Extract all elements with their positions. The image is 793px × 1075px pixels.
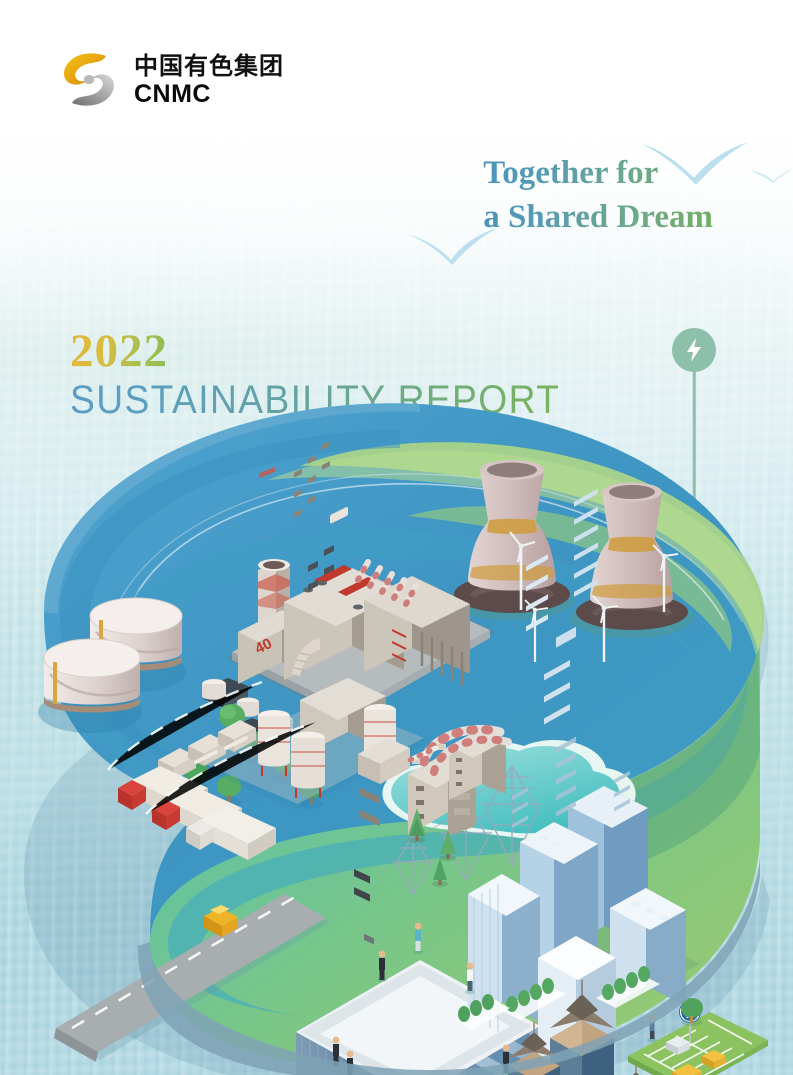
cover-tagline: Together for a Shared Dream <box>483 152 713 239</box>
company-name-en: CNMC <box>134 82 284 107</box>
brand-logo: 中国有色集团 CNMC <box>58 50 284 110</box>
silo <box>291 732 325 799</box>
cnmc-swirl-logo-icon <box>58 50 120 110</box>
company-name-cn: 中国有色集团 <box>134 54 284 78</box>
report-cover-page: 中国有色集团 CNMC Together for a Shared Dream … <box>0 0 793 1075</box>
isometric-city-illustration: 40 <box>0 280 793 1075</box>
storage-tank <box>44 639 140 713</box>
